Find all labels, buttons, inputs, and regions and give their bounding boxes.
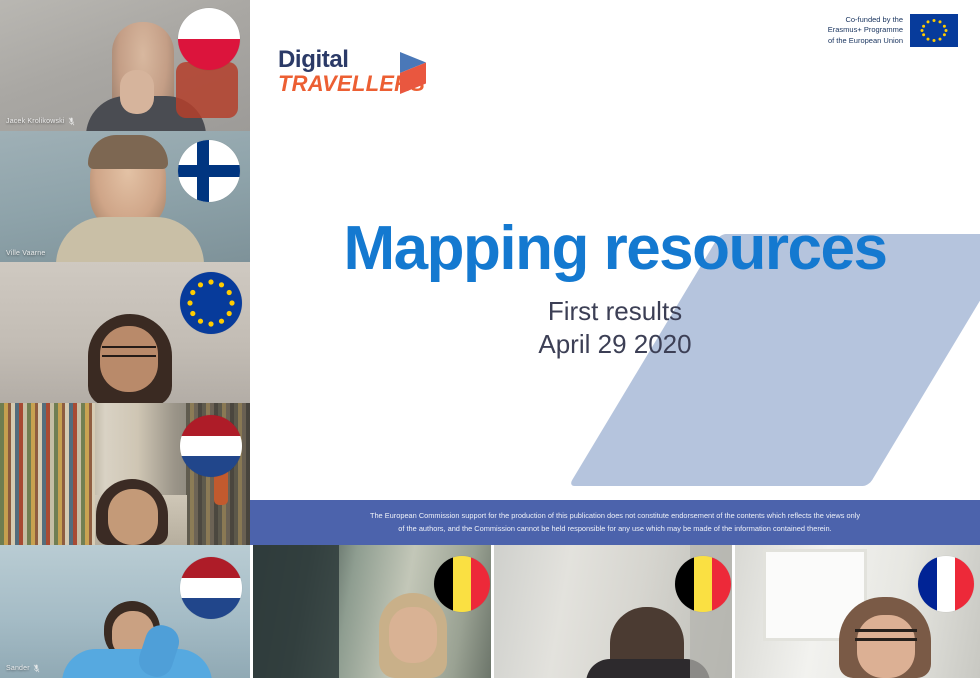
eu-flag bbox=[180, 272, 242, 334]
participant-tile[interactable]: Sander bbox=[0, 545, 250, 678]
finland-flag bbox=[178, 140, 240, 202]
disclaimer-line-1: The European Commission support for the … bbox=[370, 510, 860, 523]
slide-title-block: Mapping resources First results April 29… bbox=[250, 216, 980, 361]
video-conference-screen: Jacek Krolikowski Ville Vaarne bbox=[0, 0, 980, 678]
participant-name-tag: Jacek Krolikowski bbox=[6, 117, 75, 126]
participant-tile[interactable]: Ville Vaarne bbox=[0, 131, 250, 262]
person-face bbox=[857, 615, 915, 678]
person-face bbox=[389, 607, 437, 663]
participant-name-tag: Ville Vaarne bbox=[6, 250, 46, 257]
chevron-logo-mark bbox=[400, 52, 432, 94]
person-hair bbox=[88, 135, 168, 169]
person-shirt bbox=[62, 649, 212, 678]
belgium-flag bbox=[675, 556, 731, 612]
mic-muted-icon bbox=[68, 117, 75, 126]
bookshelf-texture bbox=[0, 403, 95, 545]
background-object bbox=[176, 62, 238, 118]
slide-date: April 29 2020 bbox=[250, 328, 980, 362]
participant-tile[interactable]: Jacek Krolikowski bbox=[0, 0, 250, 131]
participant-name: Jacek Krolikowski bbox=[6, 118, 65, 125]
participant-name: Ville Vaarne bbox=[6, 250, 46, 257]
person-face bbox=[100, 326, 158, 392]
disclaimer-line-2: of the authors, and the Commission canno… bbox=[398, 523, 831, 536]
poland-flag bbox=[178, 8, 240, 70]
eu-flag bbox=[910, 14, 958, 47]
participant-tile[interactable] bbox=[735, 545, 980, 678]
erasmus-funding-badge: Co-funded by the Erasmus+ Programme of t… bbox=[828, 14, 958, 47]
slide-subtitle: First results bbox=[250, 295, 980, 328]
participant-tile[interactable] bbox=[253, 545, 491, 678]
room-wall bbox=[253, 545, 339, 678]
participant-name-tag: Sander bbox=[6, 664, 40, 673]
person-hand bbox=[120, 70, 154, 114]
funding-text: Co-funded by the Erasmus+ Programme of t… bbox=[828, 15, 903, 45]
participant-name: Sander bbox=[6, 665, 30, 672]
eu-disclaimer-banner: The European Commission support for the … bbox=[250, 500, 980, 545]
funding-line-2: Erasmus+ Programme bbox=[828, 25, 903, 35]
slide-title: Mapping resources bbox=[250, 216, 980, 281]
funding-line-1: Co-funded by the bbox=[828, 15, 903, 25]
person-body bbox=[56, 217, 204, 262]
digital-travellers-logo: Digital TRAVELLERS bbox=[278, 48, 425, 95]
eyeglasses bbox=[855, 629, 917, 641]
shared-presentation-slide[interactable]: Digital TRAVELLERS Co-funded by the Eras… bbox=[250, 0, 980, 545]
netherlands-flag bbox=[180, 415, 242, 477]
eyeglasses bbox=[102, 346, 156, 357]
funding-line-3: of the European Union bbox=[828, 36, 903, 46]
participant-tile[interactable] bbox=[0, 403, 250, 545]
mic-muted-icon bbox=[33, 664, 40, 673]
participant-tile[interactable] bbox=[494, 545, 732, 678]
participant-tile[interactable] bbox=[0, 262, 250, 403]
belgium-flag bbox=[434, 556, 490, 612]
france-flag bbox=[918, 556, 974, 612]
person-face bbox=[108, 489, 158, 545]
netherlands-flag bbox=[180, 557, 242, 619]
